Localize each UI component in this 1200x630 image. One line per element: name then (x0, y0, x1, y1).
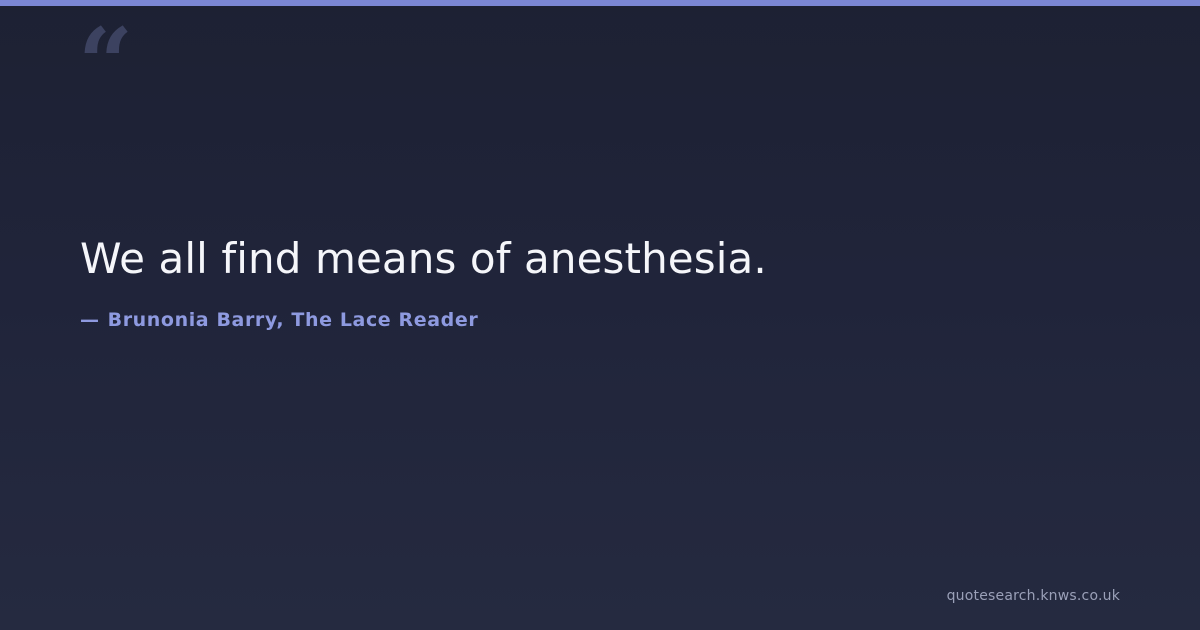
quote-content: We all find means of anesthesia. —Brunon… (80, 232, 1120, 331)
open-quote-icon: “ (78, 16, 131, 112)
quote-attribution: —Brunonia Barry, The Lace Reader (80, 309, 1120, 331)
site-watermark: quotesearch.knws.co.uk (947, 588, 1120, 604)
em-dash: — (80, 309, 100, 331)
attribution-text: Brunonia Barry, The Lace Reader (108, 309, 479, 331)
quote-card: “ We all find means of anesthesia. —Brun… (0, 0, 1200, 630)
quote-text: We all find means of anesthesia. (80, 232, 1080, 287)
top-accent-bar (0, 0, 1200, 6)
